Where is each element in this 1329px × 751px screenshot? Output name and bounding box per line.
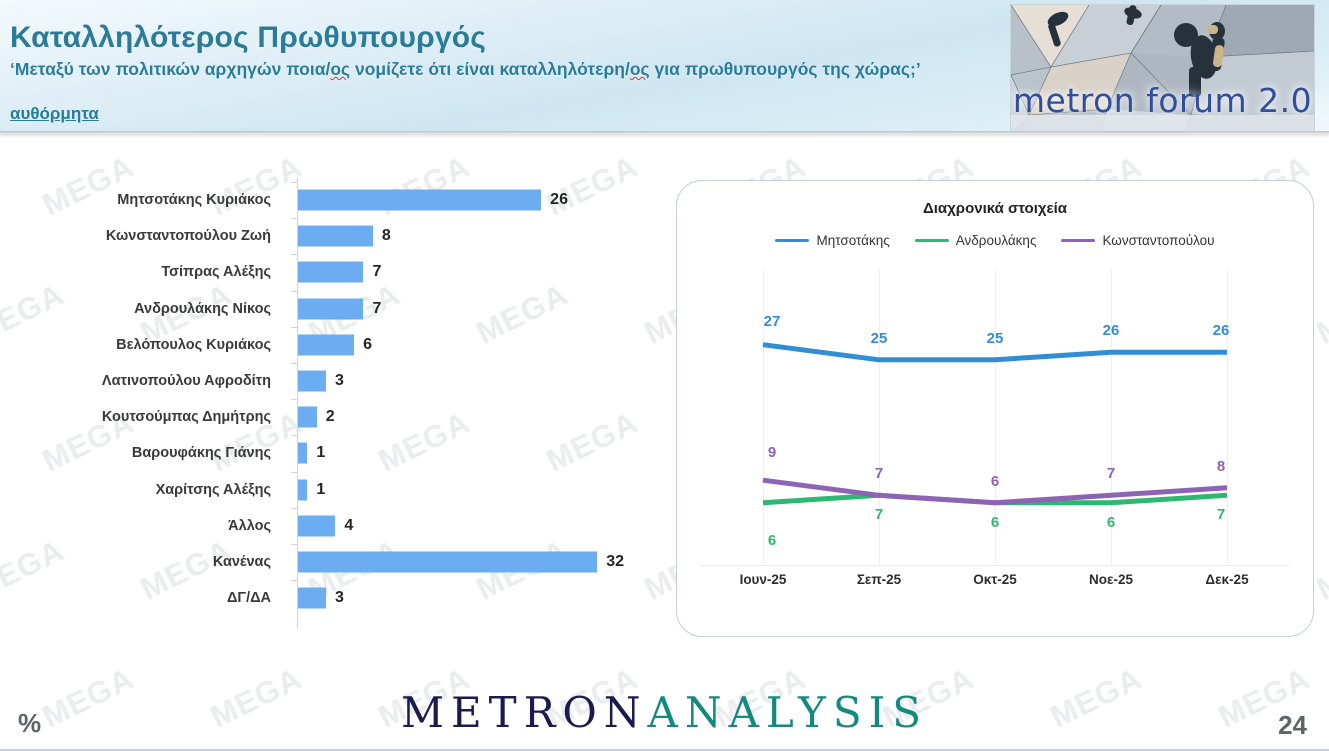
question-part-3: για πρωθυπουργός της χώρας;’ [650, 59, 921, 79]
bar-category-label: Κουτσούμπας Δημήτρης [102, 409, 271, 425]
metron-word: METRON [401, 688, 647, 737]
trend-chart-title: Διαχρονικά στοιχεία [677, 200, 1313, 217]
logo-brand-text: metron forum 2.0 [1011, 81, 1314, 120]
bar-category-label: Βαρουφάκης Γιάνης [132, 445, 271, 461]
bar-chart-row: Βαρουφάκης Γιάνης1 [0, 435, 640, 471]
bar-value-label: 8 [382, 227, 391, 245]
metron-analysis-logo: METRONANALYSIS [0, 688, 1329, 737]
bar [298, 479, 307, 500]
question-part-1: ‘Μεταξύ των πολιτικών αρχηγών ποια/ [10, 59, 330, 79]
bar-axis-tick [291, 291, 297, 292]
bar-category-label: Βελόπουλος Κυριάκος [116, 337, 271, 353]
bar-value-label: 1 [316, 481, 325, 499]
trend-x-tick-label: Νοε-25 [1089, 572, 1133, 587]
trend-x-tick-label: Ιουν-25 [740, 572, 787, 587]
slide-footer: % METRONANALYSIS 24 [0, 661, 1329, 751]
bar-value-label: 32 [606, 553, 624, 571]
bar-category-label: Λατινοπούλου Αφροδίτη [102, 373, 271, 389]
question-note: αυθόρμητα [10, 104, 99, 124]
trend-data-label: 25 [871, 330, 888, 347]
bar-value-label: 1 [316, 444, 325, 462]
bar [298, 588, 326, 609]
bar-category-label: Τσίπρας Αλέξης [161, 264, 271, 280]
trend-data-label: 26 [1213, 322, 1230, 339]
bar-chart-row: Χαρίτσης Αλέξης1 [0, 472, 640, 508]
page-title: Καταλληλότερος Πρωθυπουργός [10, 21, 486, 55]
trend-data-label: 27 [764, 313, 781, 330]
legend-label: Κωνσταντοπούλου [1102, 233, 1214, 248]
trend-x-labels: Ιουν-25Σεπ-25Οκτ-25Νοε-25Δεκ-25 [701, 572, 1289, 596]
trend-x-tick-label: Δεκ-25 [1205, 572, 1248, 587]
trend-data-label: 6 [1107, 514, 1115, 531]
trend-x-tick-label: Οκτ-25 [973, 572, 1017, 587]
trend-data-label: 6 [768, 532, 776, 549]
bar [298, 552, 597, 573]
legend-item[interactable]: Κωνσταντοπούλου [1061, 233, 1214, 248]
bar-axis-tick [291, 182, 297, 183]
bar-axis-tick [291, 254, 297, 255]
survey-question: ‘Μεταξύ των πολιτικών αρχηγών ποια/ος νο… [10, 58, 940, 81]
trend-chart-legend: ΜητσοτάκηςΑνδρουλάκηςΚωνσταντοπούλου [677, 233, 1313, 248]
bar-category-label: Κωνσταντοπούλου Ζωή [106, 228, 271, 244]
bar [298, 262, 363, 283]
trend-x-tick-label: Σεπ-25 [857, 572, 901, 587]
bar-category-label: Μητσοτάκης Κυριάκος [117, 192, 271, 208]
slide-header: Καταλληλότερος Πρωθυπουργός ‘Μεταξύ των … [0, 0, 1329, 134]
trend-chart-card: Διαχρονικά στοιχεία ΜητσοτάκηςΑνδρουλάκη… [676, 180, 1314, 637]
bar-category-label: Χαρίτσης Αλέξης [156, 482, 271, 498]
trend-data-label: 6 [991, 514, 999, 531]
bar-value-label: 7 [372, 263, 381, 281]
bar-chart: Μητσοτάκης Κυριάκος26Κωνσταντοπούλου Ζωή… [0, 178, 640, 648]
bar-chart-row: Κανένας32 [0, 544, 640, 580]
bar [298, 190, 541, 211]
bar [298, 334, 354, 355]
question-part-2: νομίζετε ότι είναι καταλληλότερη/ [350, 59, 630, 79]
bar-chart-row: Κωνσταντοπούλου Ζωή8 [0, 218, 640, 254]
legend-item[interactable]: Ανδρουλάκης [915, 233, 1037, 248]
bar-value-label: 2 [326, 408, 335, 426]
bar-chart-row: Λατινοπούλου Αφροδίτη3 [0, 363, 640, 399]
bar-value-label: 3 [335, 589, 344, 607]
slide: MEGAMEGAMEGAMEGAMEGAMEGAMEGAMEGAMEGAMEGA… [0, 0, 1329, 751]
legend-swatch [1061, 239, 1095, 242]
bar [298, 298, 363, 319]
bar [298, 515, 335, 536]
bar-value-label: 7 [372, 300, 381, 318]
question-spellcheck-2: ος [630, 59, 650, 79]
bar-value-label: 3 [335, 372, 344, 390]
page-number: 24 [1278, 710, 1307, 741]
bar-axis-tick [291, 508, 297, 509]
bar [298, 226, 373, 247]
bar-chart-row: Άλλος4 [0, 508, 640, 544]
trend-chart-plot: 27252526266766797678 Ιουν-25Σεπ-25Οκτ-25… [701, 270, 1289, 655]
bar-category-label: ΔΓ/ΔΑ [227, 590, 271, 606]
trend-data-label: 8 [1217, 458, 1225, 475]
bar-category-label: Ανδρουλάκης Νίκος [134, 301, 271, 317]
bar-value-label: 6 [363, 336, 372, 354]
trend-data-label: 7 [875, 465, 883, 482]
legend-item[interactable]: Μητσοτάκης [775, 233, 889, 248]
trend-data-label: 7 [875, 506, 883, 523]
bar-chart-row: Μητσοτάκης Κυριάκος26 [0, 182, 640, 218]
legend-swatch [915, 239, 949, 242]
bar [298, 443, 307, 464]
metron-forum-logo: metron forum 2.0 [1010, 4, 1315, 132]
bar-chart-row: Τσίπρας Αλέξης7 [0, 254, 640, 290]
trend-data-label: 25 [987, 330, 1004, 347]
bar-axis-tick [291, 363, 297, 364]
bar-category-label: Άλλος [228, 518, 271, 534]
bar-category-label: Κανένας [213, 554, 271, 570]
trend-data-label: 7 [1107, 465, 1115, 482]
bar-chart-row: Ανδρουλάκης Νίκος7 [0, 291, 640, 327]
legend-label: Μητσοτάκης [816, 233, 889, 248]
bar-chart-row: Κουτσούμπας Δημήτρης2 [0, 399, 640, 435]
bar-chart-row: Βελόπουλος Κυριάκος6 [0, 327, 640, 363]
question-spellcheck-1: ος [330, 59, 350, 79]
legend-swatch [775, 239, 809, 242]
bar-axis-tick [291, 218, 297, 219]
bar [298, 407, 317, 428]
bar-chart-row: ΔΓ/ΔΑ3 [0, 580, 640, 616]
bar-axis-tick [291, 435, 297, 436]
bar-axis-tick [291, 327, 297, 328]
bar-axis-tick [291, 472, 297, 473]
bar-axis-tick [291, 399, 297, 400]
trend-data-label: 9 [768, 444, 776, 461]
bar-value-label: 4 [344, 517, 353, 535]
legend-label: Ανδρουλάκης [956, 233, 1037, 248]
bar-axis-tick [291, 544, 297, 545]
bar-axis-tick [291, 580, 297, 581]
trend-data-label: 26 [1103, 322, 1120, 339]
trend-data-label: 7 [1217, 506, 1225, 523]
trend-data-label: 6 [991, 473, 999, 490]
analysis-word: ANALYSIS [648, 688, 928, 737]
bar [298, 371, 326, 392]
bar-value-label: 26 [550, 191, 568, 209]
